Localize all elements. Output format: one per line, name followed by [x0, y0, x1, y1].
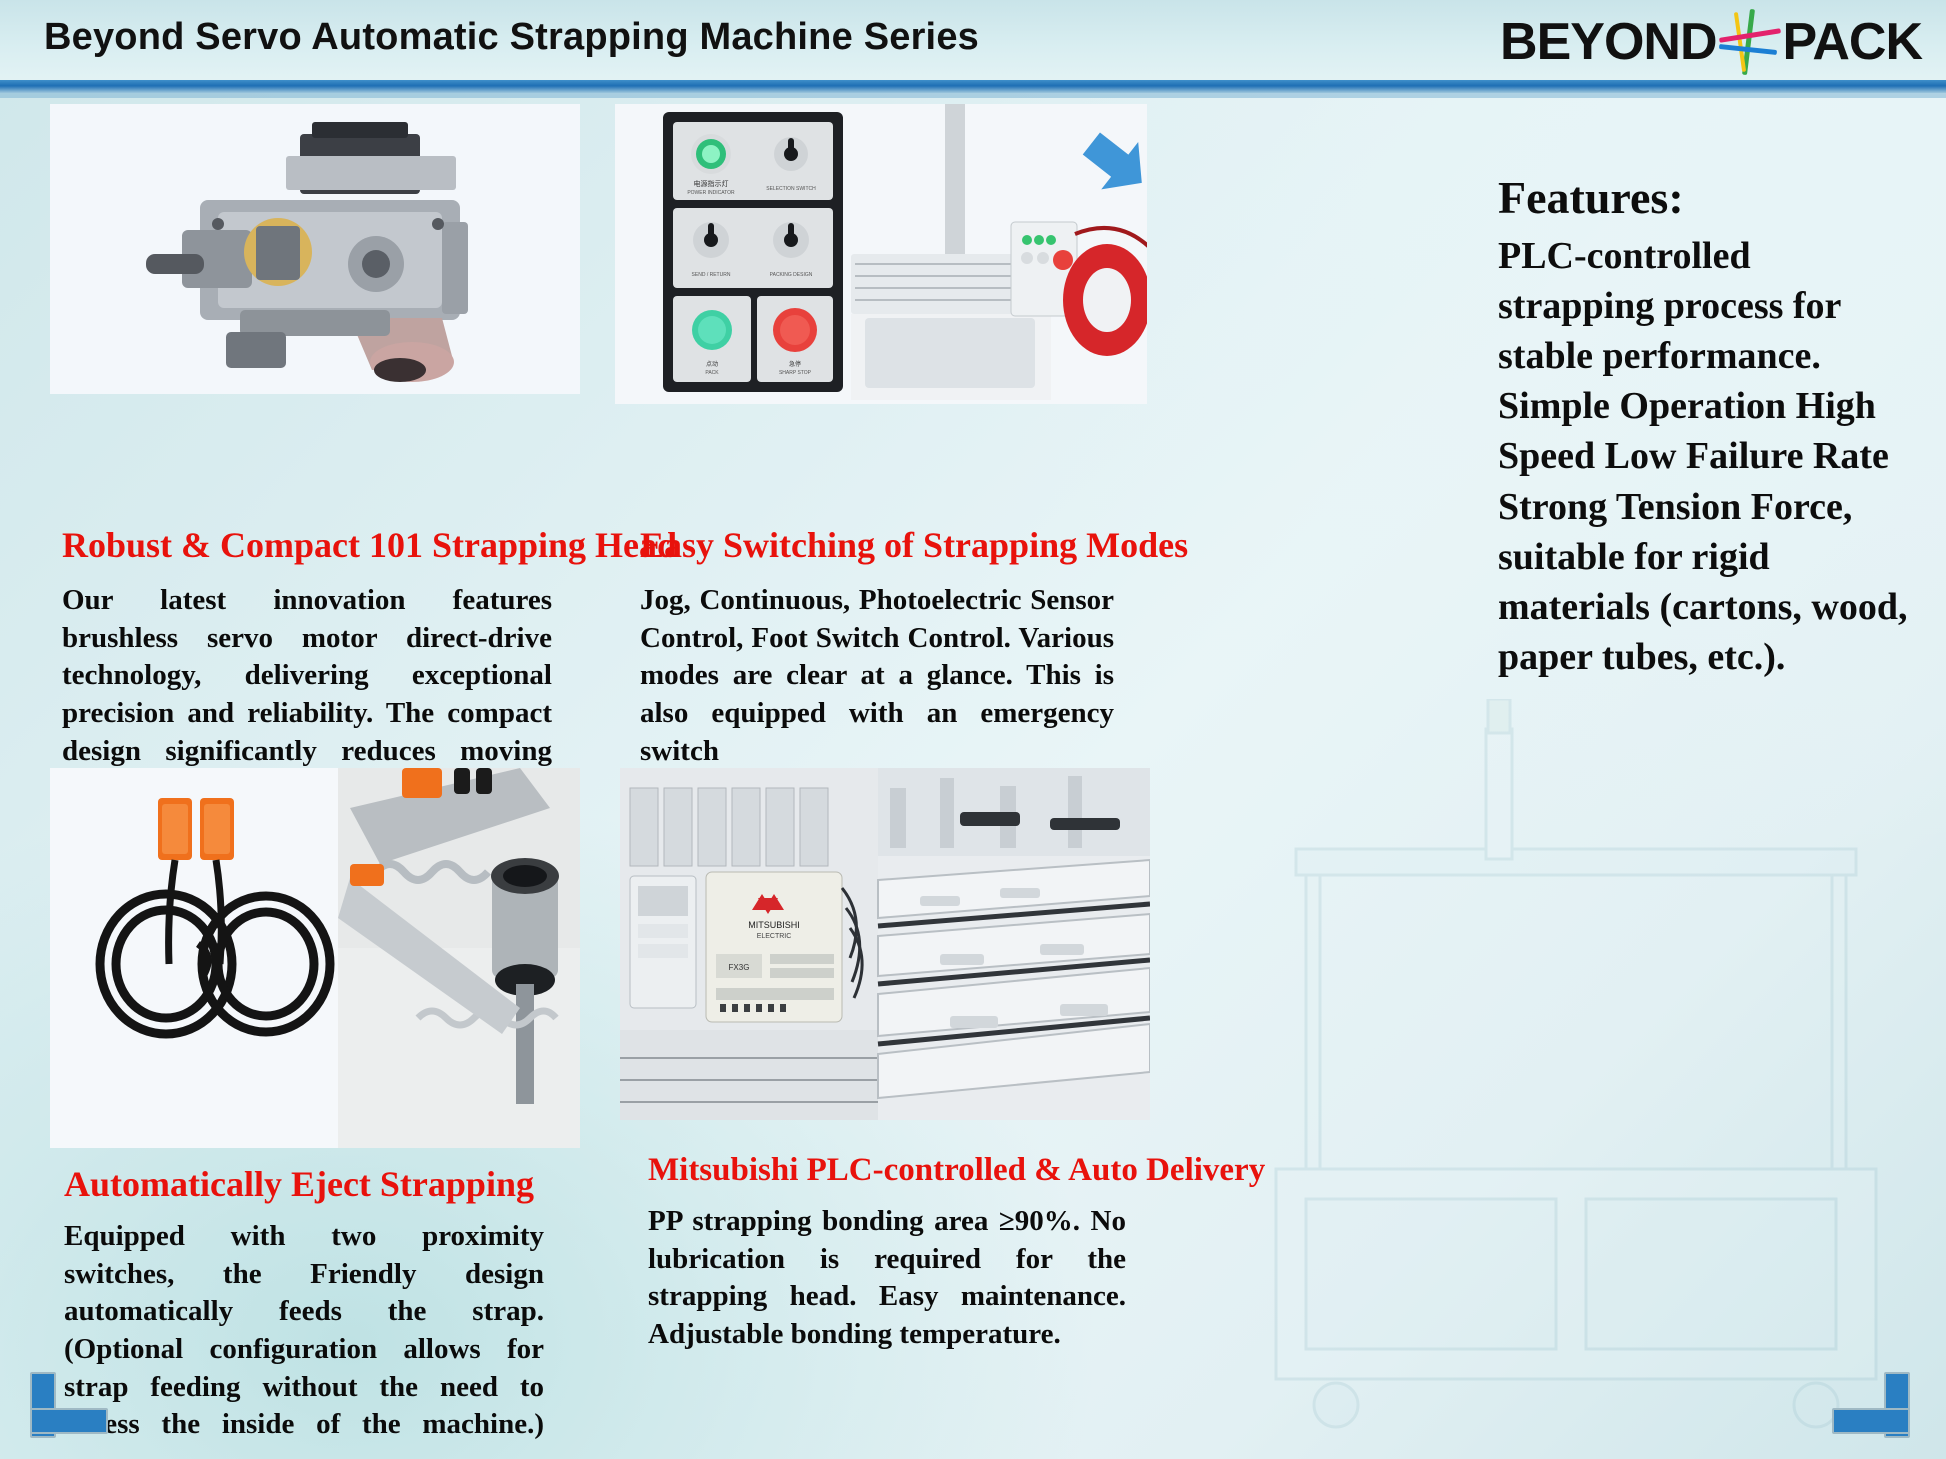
- header-accent-rule-secondary: [0, 93, 1946, 98]
- svg-text:电源指示灯: 电源指示灯: [694, 179, 729, 188]
- section-heading-plc-auto-delivery: Mitsubishi PLC-controlled & Auto Deliver…: [648, 1152, 1265, 1189]
- svg-text:SHARP STOP: SHARP STOP: [779, 370, 812, 376]
- svg-text:POWER INDICATOR: POWER INDICATOR: [687, 190, 735, 196]
- photo-control-panel: 电源指示灯 POWER INDICATOR SELECTION SWITCH S…: [615, 104, 1147, 404]
- background-machine-illustration: [1236, 699, 1936, 1459]
- svg-text:急停: 急停: [789, 360, 801, 368]
- corner-bracket-bottom-right: [1836, 1372, 1910, 1434]
- svg-text:FX3G: FX3G: [729, 963, 750, 972]
- svg-text:SELECTION SWITCH: SELECTION SWITCH: [766, 186, 816, 192]
- brand-logo: BEYOND PACK: [1500, 10, 1922, 74]
- strap-cross-logo-mark: [1719, 9, 1781, 75]
- section-heading-strapping-head: Robust & Compact 101 Strapping Head: [62, 524, 677, 566]
- logo-text-pack: PACK: [1783, 16, 1922, 68]
- logo-text-beyond: BEYOND: [1500, 16, 1716, 68]
- features-title: Features:: [1498, 168, 1913, 229]
- section-heading-strapping-modes: Easy Switching of Strapping Modes: [640, 524, 1188, 566]
- photo-strapping-head: [50, 104, 580, 394]
- section-body-eject-strapping: Equipped with two proximity switches, th…: [64, 1218, 544, 1459]
- corner-bracket-bottom-left: [30, 1372, 104, 1434]
- section-body-plc-auto-delivery: PP strapping bonding area ≥90%. No lubri…: [648, 1203, 1126, 1354]
- section-body-strapping-modes: Jog, Continuous, Photoelectric Sensor Co…: [640, 582, 1114, 770]
- slide-root: Beyond Servo Automatic Strapping Machine…: [0, 0, 1946, 1459]
- page-title: Beyond Servo Automatic Strapping Machine…: [44, 16, 979, 59]
- photo-proximity-switches: [50, 768, 580, 1148]
- svg-text:MITSUBISHI: MITSUBISHI: [748, 920, 800, 930]
- svg-text:PACKING DESIGN: PACKING DESIGN: [770, 272, 813, 278]
- photo-plc-conveyor: MITSUBISHI ELECTRIC FX3G: [620, 768, 1150, 1120]
- header-accent-rule: [0, 80, 1946, 93]
- svg-text:点动: 点动: [706, 360, 718, 368]
- svg-text:ELECTRIC: ELECTRIC: [757, 933, 792, 940]
- features-panel: Features: PLC-controlled strapping proce…: [1498, 168, 1913, 682]
- section-heading-eject-strapping: Automatically Eject Strapping: [64, 1163, 534, 1205]
- svg-text:PACK: PACK: [705, 370, 719, 376]
- features-body: PLC-controlled strapping process for sta…: [1498, 231, 1913, 682]
- svg-text:SEND / RETURN: SEND / RETURN: [692, 272, 731, 278]
